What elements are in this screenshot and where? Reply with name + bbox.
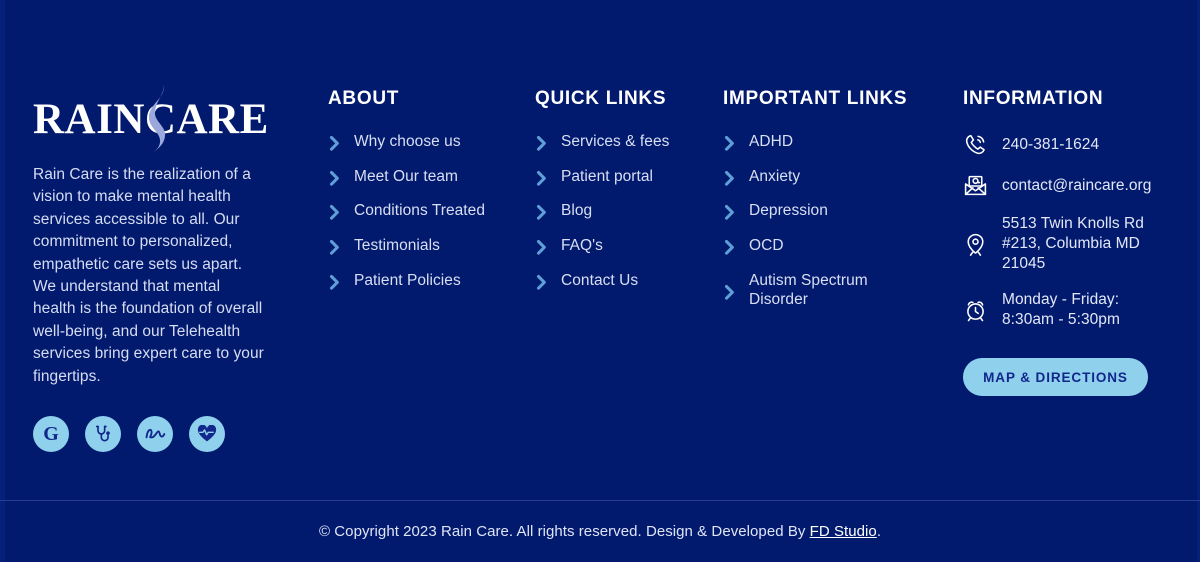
google-g-glyph: G xyxy=(43,424,59,444)
map-and-directions-button[interactable]: MAP & DIRECTIONS xyxy=(963,358,1148,396)
link-label: Meet Our team xyxy=(354,167,458,186)
link-label: Depression xyxy=(749,201,828,220)
link-item-autism-spectrum-disorder[interactable]: Autism Spectrum Disorder xyxy=(723,271,963,309)
quick-links-column: QUICK LINKS Services & fees Patient port… xyxy=(535,88,723,291)
chevron-right-icon xyxy=(535,134,549,153)
important-links-heading: IMPORTANT LINKS xyxy=(723,88,963,110)
quick-links-heading: QUICK LINKS xyxy=(535,88,723,110)
chevron-right-icon xyxy=(723,203,737,222)
copyright-text: © Copyright 2023 Rain Care. All rights r… xyxy=(319,523,881,540)
link-label: Blog xyxy=(561,201,592,220)
copyright-suffix: . xyxy=(877,523,881,540)
important-links-list: ADHD Anxiety Depression OCD Autism Spect… xyxy=(723,132,963,309)
alarm-clock-icon xyxy=(963,298,988,323)
information-column: INFORMATION 240-381-1624 xyxy=(963,88,1178,396)
link-label: Services & fees xyxy=(561,132,669,151)
info-item-address[interactable]: 5513 Twin Knolls Rd #213, Columbia MD 21… xyxy=(963,214,1178,274)
link-item-anxiety[interactable]: Anxiety xyxy=(723,167,963,188)
chevron-right-icon xyxy=(535,238,549,257)
about-link-list: Why choose us Meet Our team Conditions T… xyxy=(328,132,535,291)
info-text-phone: 240-381-1624 xyxy=(1002,135,1099,155)
info-text-address: 5513 Twin Knolls Rd #213, Columbia MD 21… xyxy=(1002,214,1152,274)
info-item-phone[interactable]: 240-381-1624 xyxy=(963,132,1178,157)
about-heading: ABOUT xyxy=(328,88,535,110)
link-item-testimonials[interactable]: Testimonials xyxy=(328,236,535,257)
link-item-adhd[interactable]: ADHD xyxy=(723,132,963,153)
copyright-prefix: © Copyright 2023 Rain Care. All rights r… xyxy=(319,523,810,540)
link-item-patient-portal[interactable]: Patient portal xyxy=(535,167,723,188)
raincare-logo[interactable]: RAINCARE xyxy=(33,92,243,148)
brand-description: Rain Care is the realization of a vision… xyxy=(33,164,265,388)
envelope-at-icon xyxy=(963,173,988,198)
information-heading: INFORMATION xyxy=(963,88,1178,110)
link-label: Contact Us xyxy=(561,271,638,290)
link-label: Conditions Treated xyxy=(354,201,485,220)
chevron-right-icon xyxy=(535,273,549,292)
info-text-hours: Monday - Friday: 8:30am - 5:30pm xyxy=(1002,290,1152,330)
chevron-right-icon xyxy=(328,134,342,153)
info-text-email: contact@raincare.org xyxy=(1002,176,1151,196)
location-pin-icon xyxy=(963,232,988,257)
social-google-icon[interactable]: G xyxy=(33,416,69,452)
chevron-right-icon xyxy=(723,283,737,302)
link-label: Why choose us xyxy=(354,132,461,151)
link-label: OCD xyxy=(749,236,784,255)
link-label: Testimonials xyxy=(354,236,440,255)
social-heart-pulse-icon[interactable] xyxy=(189,416,225,452)
about-column: ABOUT Why choose us Meet Our team Condit… xyxy=(328,88,535,291)
info-item-email[interactable]: contact@raincare.org xyxy=(963,173,1178,198)
chevron-right-icon xyxy=(723,134,737,153)
chevron-right-icon xyxy=(535,203,549,222)
link-label: Autism Spectrum Disorder xyxy=(749,271,874,309)
link-label: Anxiety xyxy=(749,167,800,186)
link-label: FAQ's xyxy=(561,236,603,255)
link-label: Patient portal xyxy=(561,167,653,186)
fd-studio-link[interactable]: FD Studio xyxy=(810,523,877,540)
link-item-blog[interactable]: Blog xyxy=(535,201,723,222)
logo-wordmark: RAINCARE xyxy=(33,92,243,148)
chevron-right-icon xyxy=(328,203,342,222)
link-item-conditions-treated[interactable]: Conditions Treated xyxy=(328,201,535,222)
chevron-right-icon xyxy=(723,238,737,257)
link-item-contact-us[interactable]: Contact Us xyxy=(535,271,723,292)
information-list: 240-381-1624 contact@raincare.org xyxy=(963,132,1178,330)
footer-main: RAINCARE Rain Care is the realization of… xyxy=(0,0,1200,500)
chevron-right-icon xyxy=(723,169,737,188)
chevron-right-icon xyxy=(328,273,342,292)
important-links-column: IMPORTANT LINKS ADHD Anxiety Depression … xyxy=(723,88,963,309)
link-item-depression[interactable]: Depression xyxy=(723,201,963,222)
footer-bottom-bar: © Copyright 2023 Rain Care. All rights r… xyxy=(0,501,1200,562)
logo-text-care: CARE xyxy=(145,96,269,143)
info-item-hours[interactable]: Monday - Friday: 8:30am - 5:30pm xyxy=(963,290,1178,330)
link-item-faqs[interactable]: FAQ's xyxy=(535,236,723,257)
footer-columns: RAINCARE Rain Care is the realization of… xyxy=(33,88,1170,452)
link-item-meet-our-team[interactable]: Meet Our team xyxy=(328,167,535,188)
phone-icon xyxy=(963,132,988,157)
social-signature-squiggle-icon[interactable] xyxy=(137,416,173,452)
social-stethoscope-icon[interactable] xyxy=(85,416,121,452)
brand-column: RAINCARE Rain Care is the realization of… xyxy=(33,88,328,452)
link-item-services-fees[interactable]: Services & fees xyxy=(535,132,723,153)
chevron-right-icon xyxy=(328,169,342,188)
link-item-patient-policies[interactable]: Patient Policies xyxy=(328,271,535,292)
link-item-why-choose-us[interactable]: Why choose us xyxy=(328,132,535,153)
link-item-ocd[interactable]: OCD xyxy=(723,236,963,257)
chevron-right-icon xyxy=(328,238,342,257)
logo-text-rain: RAIN xyxy=(33,96,145,143)
link-label: ADHD xyxy=(749,132,793,151)
link-label: Patient Policies xyxy=(354,271,461,290)
heart-pulse-glyph xyxy=(197,425,217,443)
quick-links-list: Services & fees Patient portal Blog FAQ'… xyxy=(535,132,723,291)
social-links: G xyxy=(33,416,328,452)
chevron-right-icon xyxy=(535,169,549,188)
